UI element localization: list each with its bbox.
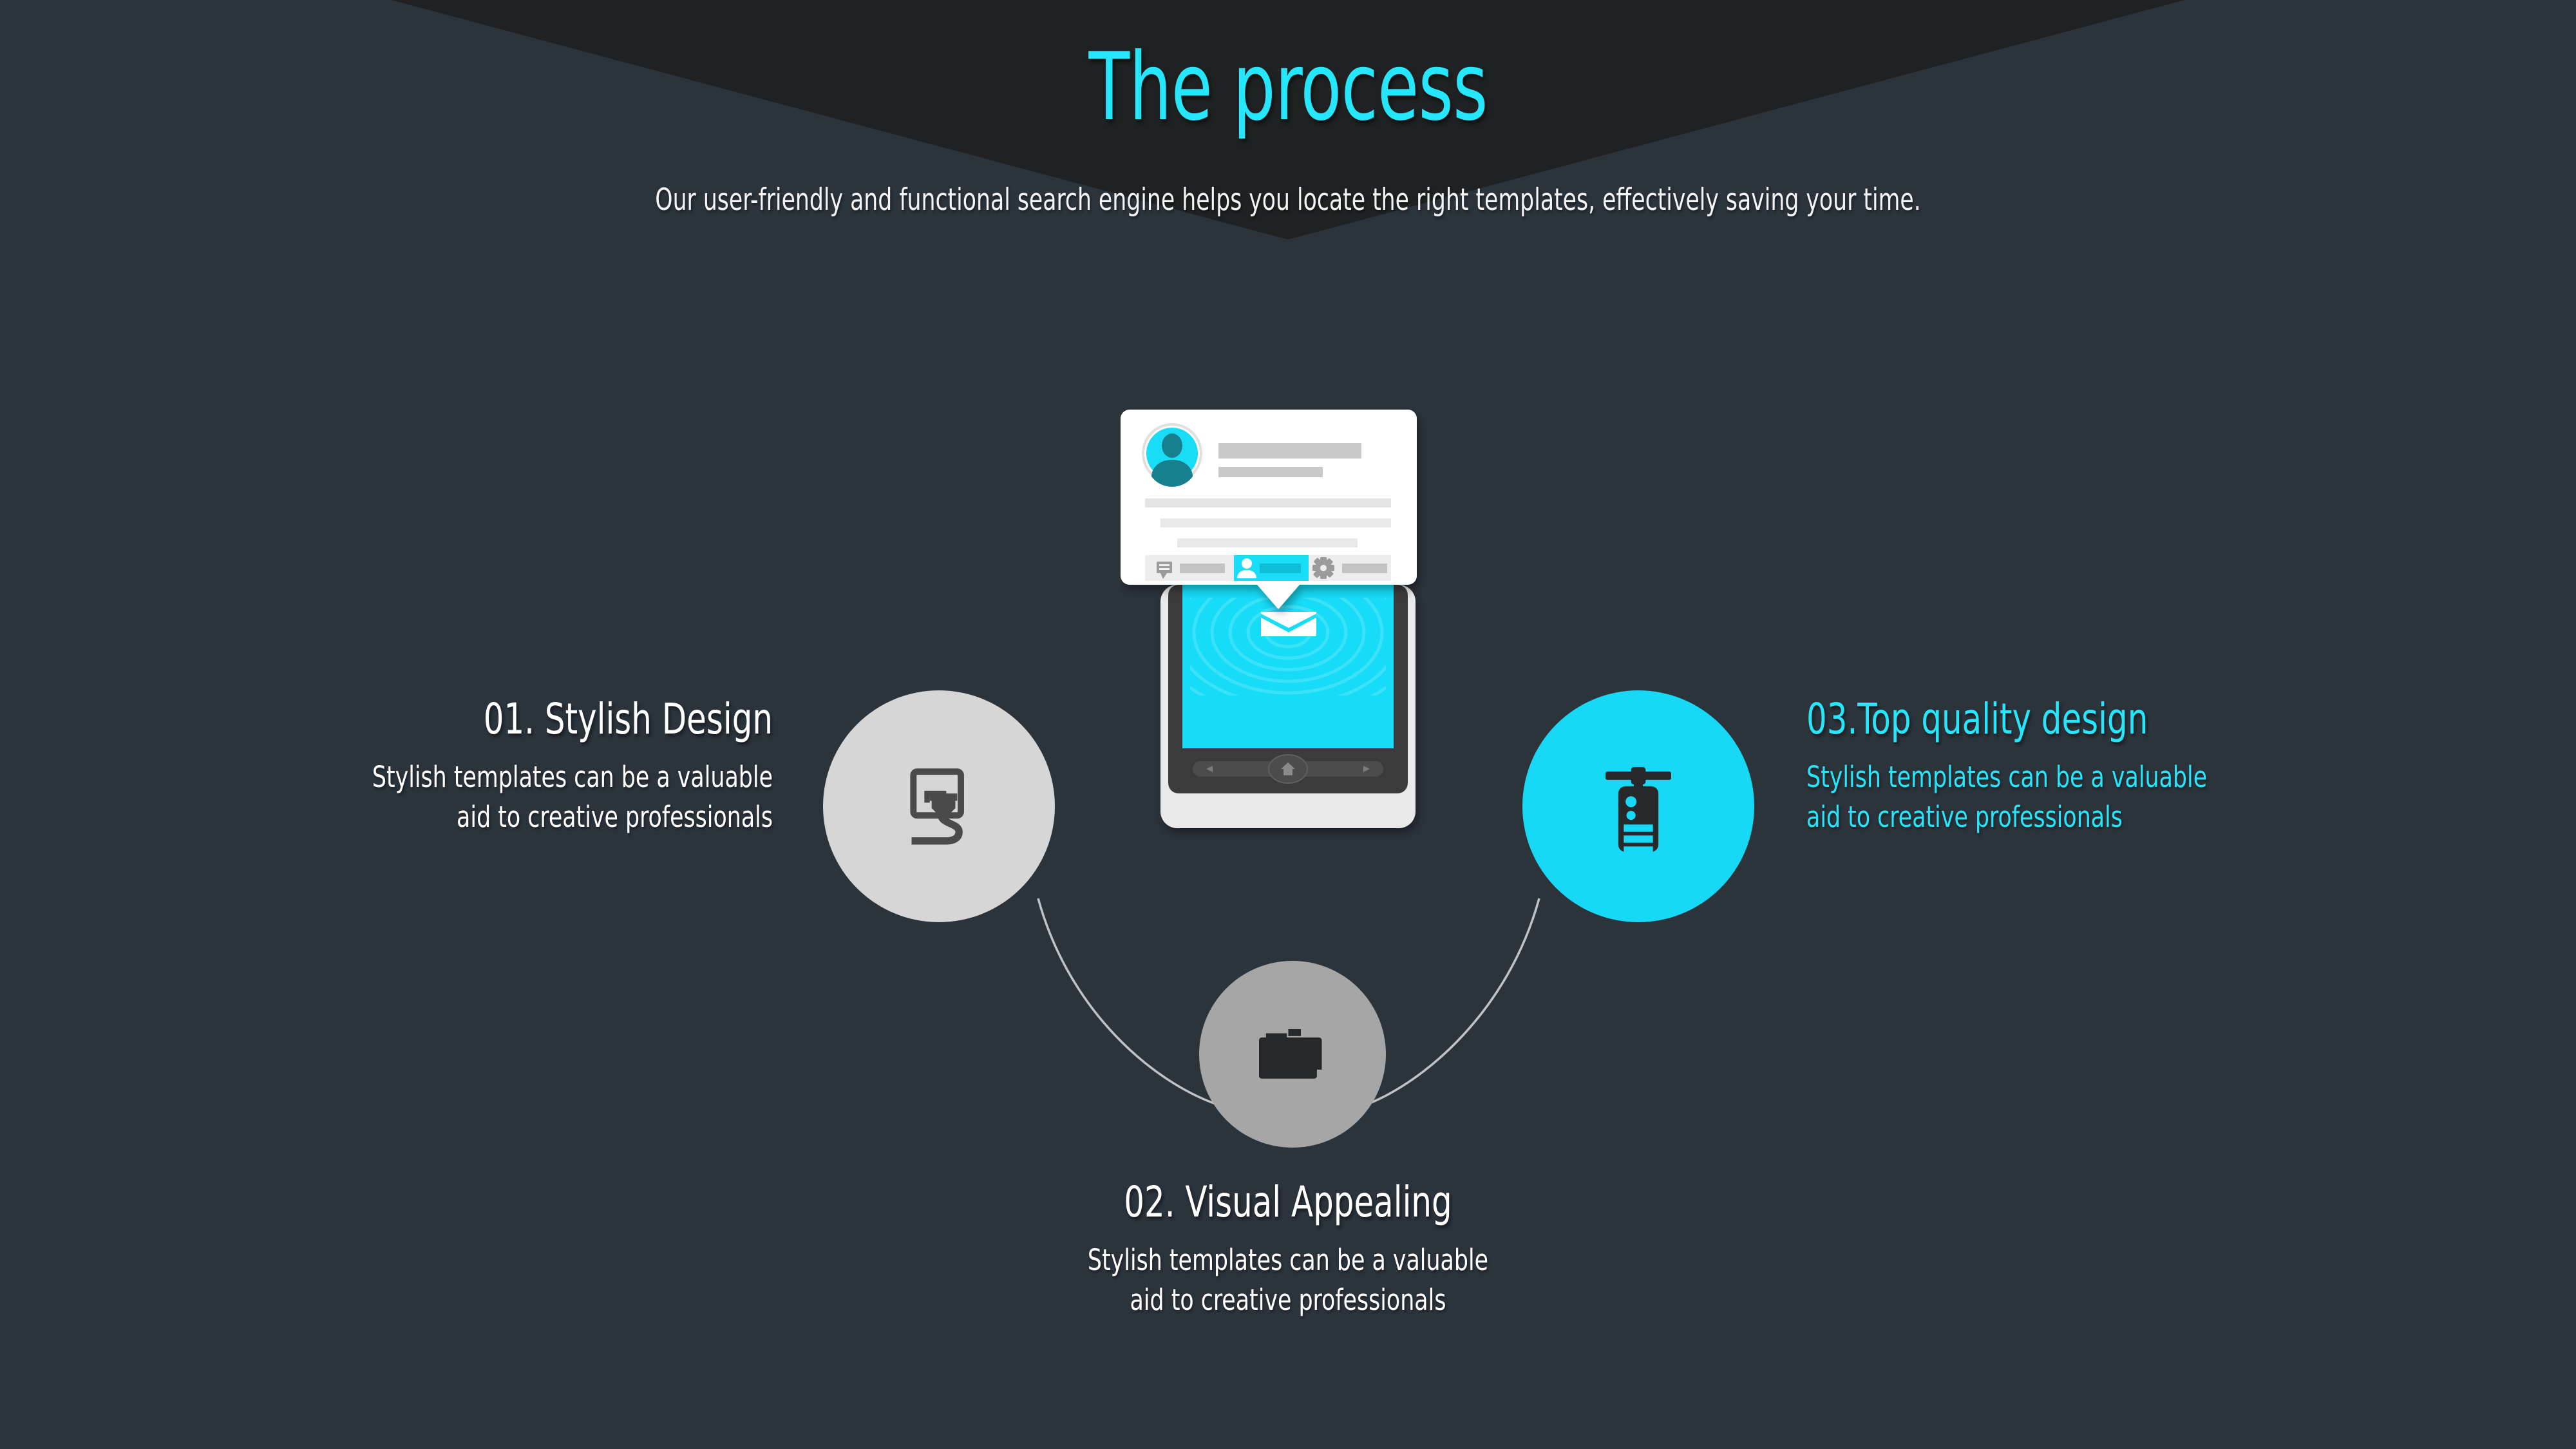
connector-left	[1038, 898, 1217, 1104]
slide-canvas: The process Our user-friendly and functi…	[0, 0, 2576, 1449]
step-body-01: Stylish templates can be a valuable aid …	[180, 757, 773, 837]
step-body-03: Stylish templates can be a valuable aid …	[1806, 757, 2416, 837]
step-heading-01: 01. Stylish Design	[194, 696, 773, 743]
step-body-02: Stylish templates can be a valuable aid …	[956, 1240, 1620, 1320]
tab-profile-active[interactable]	[1234, 555, 1309, 581]
step-circle-01[interactable]	[823, 690, 1055, 922]
smartphone-illustration	[1121, 406, 1455, 876]
step-heading-02: 02. Visual Appealing	[963, 1179, 1613, 1226]
page-title: The process	[258, 39, 2318, 137]
step-text-01: 01. Stylish Design Stylish templates can…	[84, 696, 773, 837]
step-circle-03[interactable]	[1522, 690, 1754, 922]
folder-icon	[1251, 1012, 1334, 1096]
step-text-03: 03.Top quality design Stylish templates …	[1806, 696, 2515, 837]
step-text-02: 02. Visual Appealing Stylish templates c…	[902, 1179, 1674, 1320]
connector-right	[1367, 898, 1539, 1104]
tower-device-icon	[1584, 752, 1693, 861]
card-tab-bar[interactable]	[1145, 555, 1391, 581]
envelope-icon	[1261, 612, 1316, 636]
card-body-lines	[1145, 498, 1391, 547]
step-circle-02[interactable]	[1199, 961, 1386, 1148]
step-heading-03: 03.Top quality design	[1806, 696, 2401, 743]
page-subtitle: Our user-friendly and functional search …	[232, 182, 2344, 218]
monitor-cable-icon	[884, 752, 994, 861]
